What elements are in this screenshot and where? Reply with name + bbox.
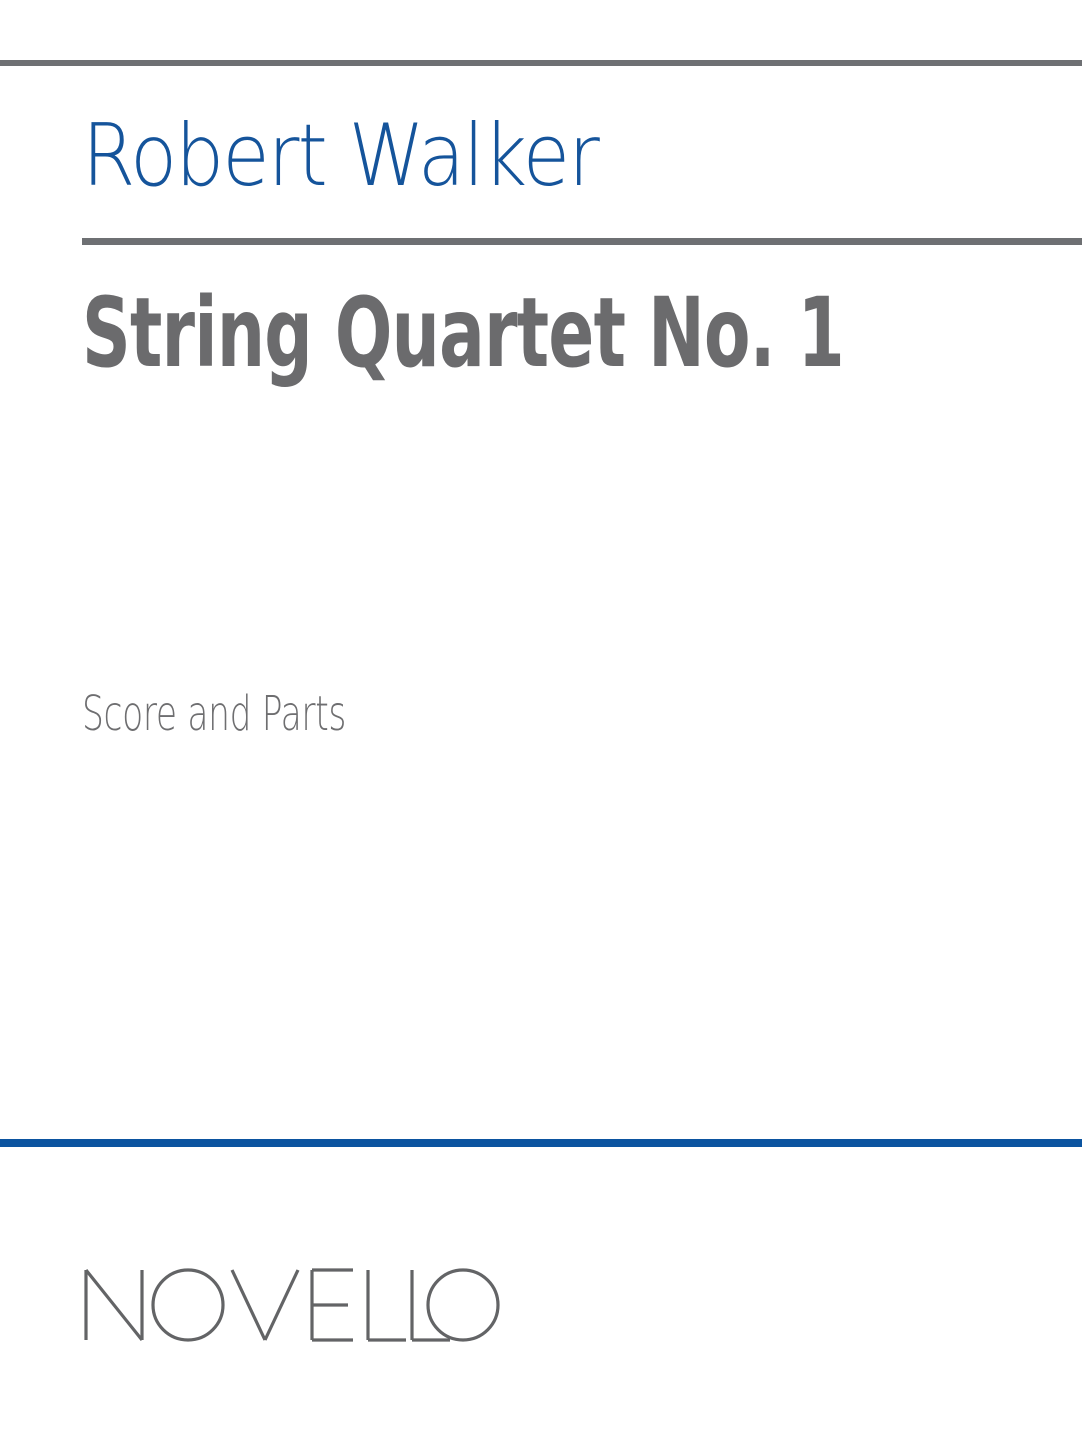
composer-name-text: Robert Walker — [82, 106, 600, 206]
publisher-logo-letter-o-2 — [428, 1270, 498, 1340]
subtitle: Score and Parts — [82, 683, 702, 745]
publisher-logo-letter-e — [312, 1270, 353, 1340]
publisher-logo-letter-l-1 — [368, 1270, 406, 1340]
sheet-music-cover-page: Robert Walker String Quartet No. 1 Score… — [0, 0, 1082, 1441]
horizontal-rule-top — [0, 60, 1082, 66]
page-title-text: String Quartet No. 1 — [82, 277, 844, 389]
page-title: String Quartet No. 1 — [82, 278, 1022, 388]
horizontal-rule-under-composer — [82, 238, 1082, 245]
subtitle-text: Score and Parts — [82, 686, 346, 742]
publisher-logo-letter-v — [232, 1270, 298, 1340]
publisher-logo: NOVELLO — [82, 1262, 502, 1348]
publisher-logo-letter-o-1 — [153, 1270, 223, 1340]
publisher-logo-letter-l-2 — [412, 1270, 450, 1340]
horizontal-rule-blue-above-publisher — [0, 1139, 1082, 1147]
publisher-logo-letter-n — [86, 1270, 142, 1340]
composer-name: Robert Walker — [82, 103, 982, 208]
